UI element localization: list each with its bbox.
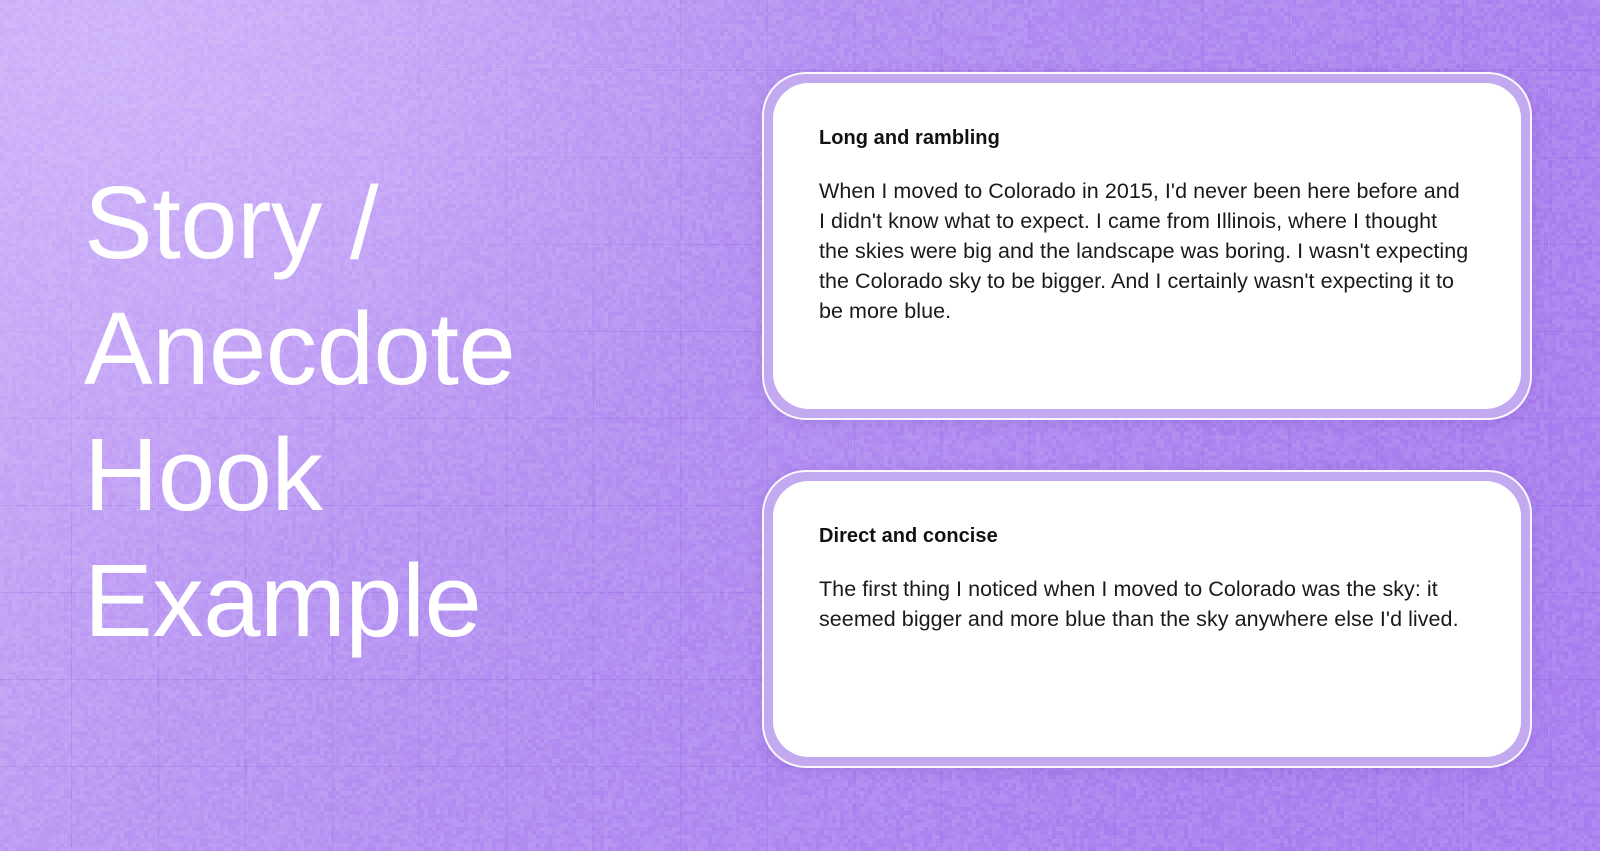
card-heading: Long and rambling xyxy=(819,127,1475,150)
slide-canvas: Story / Anecdote Hook Example Long and r… xyxy=(0,0,1600,851)
card-heading: Direct and concise xyxy=(819,525,1475,548)
example-card-long-and-rambling: Long and rambling When I moved to Colora… xyxy=(762,72,1532,420)
cards-column: Long and rambling When I moved to Colora… xyxy=(762,0,1532,851)
card-surface: Direct and concise The first thing I not… xyxy=(773,481,1521,757)
card-surface: Long and rambling When I moved to Colora… xyxy=(773,83,1521,409)
card-body-text: When I moved to Colorado in 2015, I'd ne… xyxy=(819,176,1471,326)
page-title: Story / Anecdote Hook Example xyxy=(84,160,684,664)
example-card-direct-and-concise: Direct and concise The first thing I not… xyxy=(762,470,1532,768)
card-body-text: The first thing I noticed when I moved t… xyxy=(819,574,1471,634)
